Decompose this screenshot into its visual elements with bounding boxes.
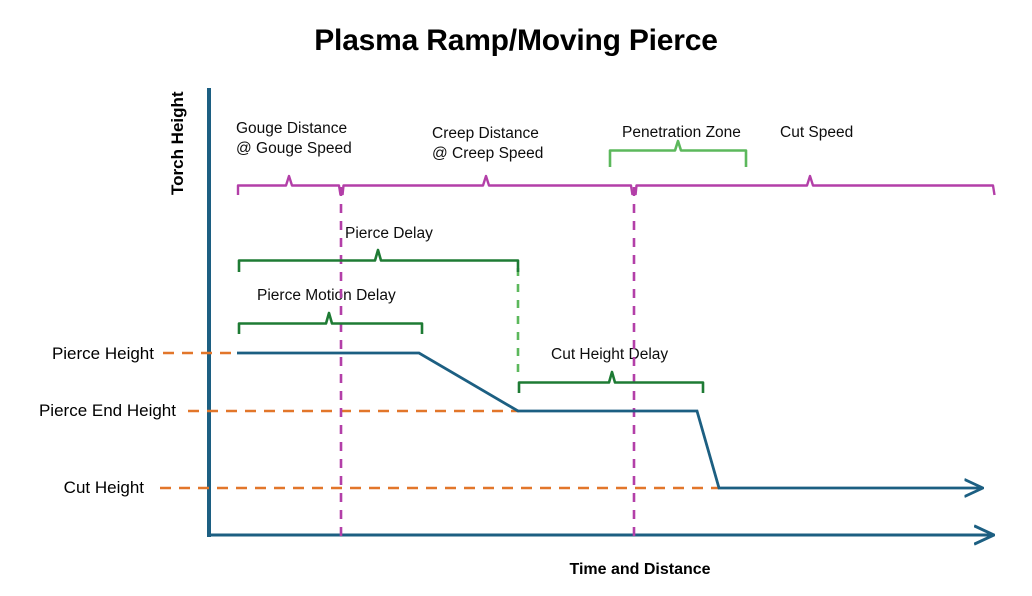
brace-gouge-distance (238, 176, 341, 195)
torch-height-profile-curve (237, 353, 982, 488)
diagram-canvas: Plasma Ramp/Moving Pierce Torch Height T… (0, 0, 1032, 596)
diagram-graphics (0, 0, 1032, 596)
brace-creep-distance (343, 176, 633, 195)
brace-penetration-zone (610, 141, 746, 167)
brace-cut-speed (636, 176, 995, 195)
brace-pierce-delay (239, 250, 518, 272)
brace-pierce-motion-delay (239, 313, 422, 334)
brace-cut-height-delay (519, 372, 703, 393)
